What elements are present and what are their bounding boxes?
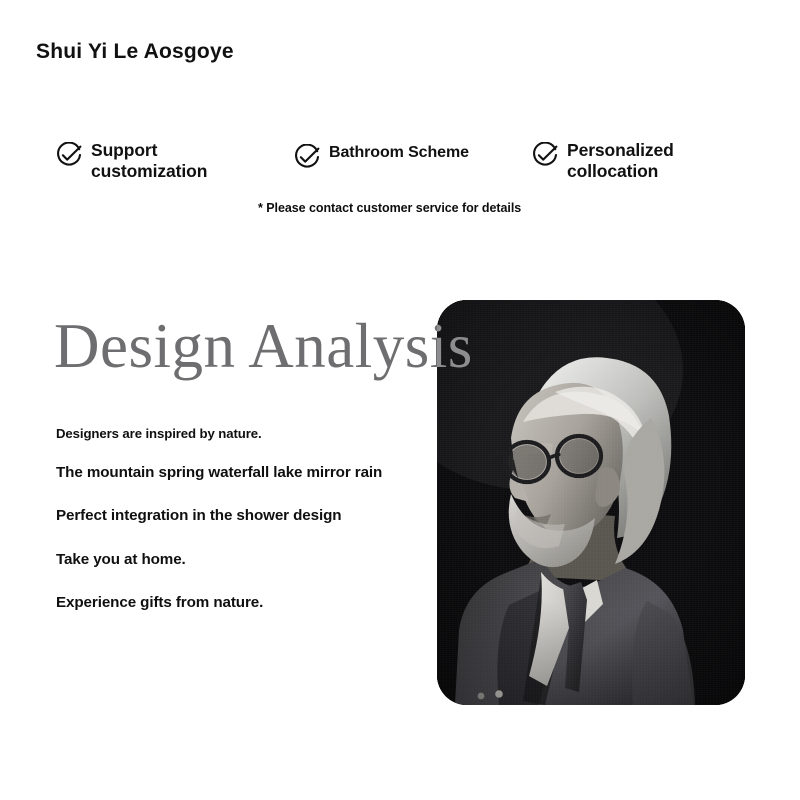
copy-line: Designers are inspired by nature.: [56, 425, 424, 442]
feature-personalized-collocation: Personalized collocation: [532, 140, 762, 183]
portrait-photo: [437, 300, 745, 705]
design-analysis-copy: Designers are inspired by nature. The mo…: [56, 425, 424, 613]
copy-line: Experience gifts from nature.: [56, 593, 424, 613]
photo-vignette-overlay: [437, 300, 745, 705]
copy-line: The mountain spring waterfall lake mirro…: [56, 463, 424, 483]
feature-label: Support customization: [91, 140, 276, 183]
feature-label: Personalized collocation: [567, 140, 762, 183]
check-circle-icon: [56, 142, 82, 168]
feature-label: Bathroom Scheme: [329, 143, 469, 163]
section-headline: Design Analysis: [54, 310, 473, 383]
feature-support-customization: Support customization: [56, 140, 276, 183]
brand-title: Shui Yi Le Aosgoye: [36, 40, 234, 64]
copy-line: Take you at home.: [56, 550, 424, 570]
feature-row: Support customization Bathroom Scheme Pe…: [0, 136, 800, 196]
feature-bathroom-scheme: Bathroom Scheme: [294, 142, 524, 170]
check-circle-icon: [532, 142, 558, 168]
customer-service-note: * Please contact customer service for de…: [258, 199, 538, 217]
check-circle-icon: [294, 144, 320, 170]
marketing-page: Shui Yi Le Aosgoye Support customization…: [0, 0, 800, 800]
copy-line: Perfect integration in the shower design: [56, 506, 424, 526]
